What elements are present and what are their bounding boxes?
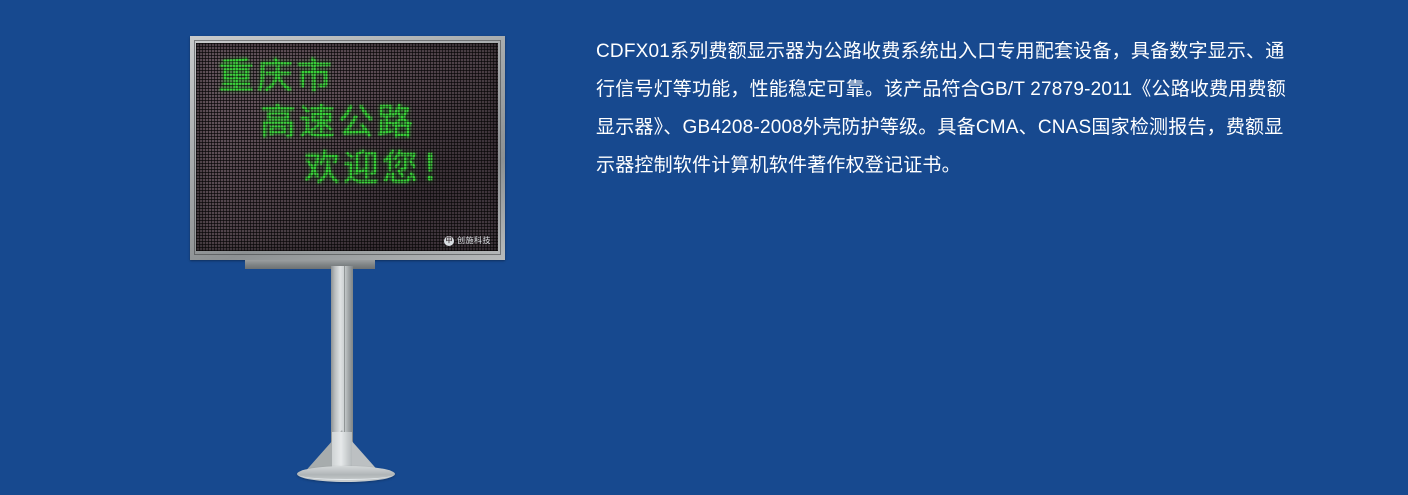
pole-seam [344,266,345,446]
led-line-3: 欢迎您！ [204,145,490,191]
product-description-paragraph: CDFX01系列费额显示器为公路收费系统出入口专用配套设备，具备数字显示、通行信… [596,33,1296,185]
brand-mark-icon: 中 [444,236,454,246]
sign-support-pole [331,266,353,446]
led-sign-board: 重庆市 高速公路 欢迎您！ 中 创施科技 [190,36,505,260]
brand-logo: 中 创施科技 [444,235,491,246]
sign-mounting-bar [245,260,375,269]
led-line-1: 重庆市 [204,53,490,99]
brand-name-label: 创施科技 [457,235,491,246]
led-line-2: 高速公路 [204,99,490,145]
led-sign-figure: 重庆市 高速公路 欢迎您！ 中 创施科技 [0,0,580,495]
pole-base-plate-lip [299,470,393,480]
product-description: CDFX01系列费额显示器为公路收费系统出入口专用配套设备，具备数字显示、通行信… [596,33,1296,185]
led-panel: 重庆市 高速公路 欢迎您！ 中 创施科技 [196,43,498,251]
page-root: 重庆市 高速公路 欢迎您！ 中 创施科技 CDFX01系列费额显示器为公路收费 [0,0,1408,495]
led-message-text: 重庆市 高速公路 欢迎您！ [204,53,490,191]
